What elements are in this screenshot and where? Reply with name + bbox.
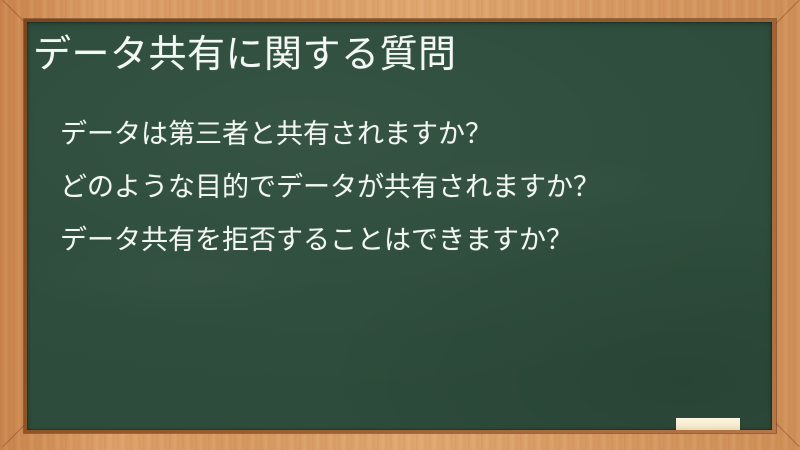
chalk-eraser: [676, 418, 740, 430]
chalkboard-surface: データ共有に関する質問 データは第三者と共有されますか？ どのような目的でデータ…: [27, 22, 772, 430]
board-question-list: データは第三者と共有されますか？ どのような目的でデータが共有されますか？ デー…: [60, 108, 762, 267]
chalkboard-slide: データ共有に関する質問 データは第三者と共有されますか？ どのような目的でデータ…: [0, 0, 800, 450]
board-title: データ共有に関する質問: [33, 32, 457, 77]
board-question-line: データ共有を拒否することはできますか？: [60, 214, 762, 267]
board-question-line: データは第三者と共有されますか？: [60, 108, 762, 161]
board-question-line: どのような目的でデータが共有されますか？: [60, 161, 762, 214]
